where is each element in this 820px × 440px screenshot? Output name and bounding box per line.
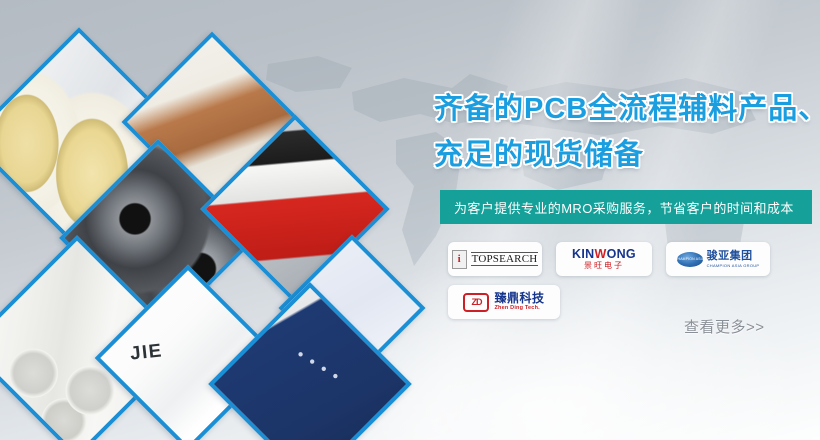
panel-dots bbox=[298, 352, 350, 384]
kinwong-wordmark: KINWONG bbox=[572, 248, 636, 261]
page-title: 齐备的PCB全流程辅料产品、 充足的现货储备 bbox=[434, 86, 820, 178]
film-sheet-caption: JIE bbox=[129, 338, 164, 363]
headline-line-1: 齐备的PCB全流程辅料产品、 bbox=[434, 86, 820, 132]
subtitle-text: 为客户提供专业的MRO采购服务，节省客户的时间和成本 bbox=[440, 198, 794, 217]
subtitle-bar: 为客户提供专业的MRO采购服务，节省客户的时间和成本 bbox=[440, 190, 812, 224]
zhen-ding-mark-icon: ZD bbox=[463, 293, 489, 312]
kinwong-en-tail: ONG bbox=[607, 247, 636, 261]
kinwong-cn-name: 景旺电子 bbox=[572, 262, 636, 270]
zhen-ding-cn-name: 臻鼎科技 bbox=[494, 292, 544, 304]
topsearch-wordmark: TOPSEARCH bbox=[471, 252, 539, 266]
logo-row-2: ZD 臻鼎科技 Zhen Ding Tech. bbox=[448, 285, 820, 319]
topsearch-mark-letter: i bbox=[458, 254, 461, 265]
logo-kinwong[interactable]: KINWONG 景旺电子 bbox=[556, 242, 652, 276]
logo-champion-asia[interactable]: CHAMPION ASIA 骏亚集团 CHAMPION ASIA GROUP bbox=[666, 242, 770, 276]
globe-label: CHAMPION ASIA bbox=[675, 257, 704, 261]
globe-icon: CHAMPION ASIA bbox=[677, 252, 703, 267]
logo-row-1: i TOPSEARCH KINWONG 景旺电子 CHAMPION ASIA bbox=[448, 242, 820, 276]
topsearch-mark-icon: i bbox=[452, 250, 467, 269]
view-more-link[interactable]: 查看更多>> bbox=[684, 316, 765, 337]
kinwong-en-head: KIN bbox=[572, 247, 594, 261]
logo-topsearch[interactable]: i TOPSEARCH bbox=[448, 242, 542, 276]
kinwong-en-accent: W bbox=[594, 247, 606, 261]
champion-asia-en-name: CHAMPION ASIA GROUP bbox=[707, 264, 760, 268]
hero-banner: JIE 齐备的PCB全流程辅料产品、 充足的现货储备 为客户提供专业的MRO采购… bbox=[0, 0, 820, 440]
zhen-ding-mark-text: ZD bbox=[471, 298, 481, 307]
zhen-ding-en-name: Zhen Ding Tech. bbox=[494, 306, 544, 312]
product-diamond-collage: JIE bbox=[0, 20, 390, 440]
logo-zhen-ding[interactable]: ZD 臻鼎科技 Zhen Ding Tech. bbox=[448, 285, 560, 319]
headline-line-2: 充足的现货储备 bbox=[434, 132, 820, 178]
champion-asia-cn-name: 骏亚集团 bbox=[707, 251, 760, 262]
